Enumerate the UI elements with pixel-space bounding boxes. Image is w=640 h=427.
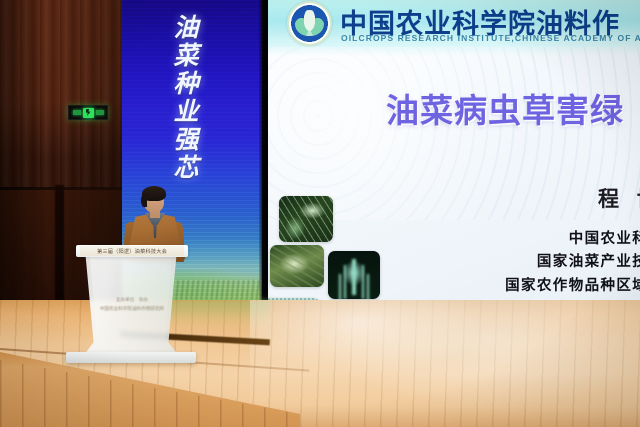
photo-rapeseed-pest-damage xyxy=(279,196,333,242)
podium-sub-line-2: 中国农业科学院油料作物研究所 xyxy=(95,305,169,314)
presenter-name: 程 博 xyxy=(598,183,640,213)
podium-banner-text: 第三届（阳逻）油菜科技大会 xyxy=(97,248,167,255)
floor-reflection-screen xyxy=(250,300,640,427)
projection-screen: 中国农业科学院油料作 OILCROPS RESEARCH INSTITUTE,C… xyxy=(268,0,640,340)
podium-base xyxy=(66,352,196,363)
podium-banner: 第三届（阳逻）油菜科技大会 xyxy=(80,246,184,256)
conference-photo: 油菜种业强芯 中国农业科学院油料作 OILCROPS RESEARCH INST… xyxy=(0,0,640,427)
podium-sub-line-1: 主办单位 协办 xyxy=(95,296,169,305)
logo-ring-text xyxy=(287,1,332,46)
institute-name-en: OILCROPS RESEARCH INSTITUTE,CHINESE ACAD… xyxy=(341,33,640,43)
vertical-banner-text: 油菜种业强芯 xyxy=(160,14,200,182)
exit-sign-left-text xyxy=(73,110,81,115)
photo-rapeseed-seedling xyxy=(328,251,380,299)
exit-sign-right-text xyxy=(96,110,104,115)
wall-dark-groove xyxy=(55,185,64,300)
slide-title: 油菜病虫草害绿 xyxy=(386,84,624,132)
running-man-icon xyxy=(83,108,94,118)
affiliation-item: 中国农业科学院 xyxy=(308,228,640,251)
oilcrops-research-institute-logo xyxy=(287,1,332,46)
photo-rapeseed-sclerotinia xyxy=(270,245,324,287)
exit-sign xyxy=(68,105,108,120)
speaker-hair-side xyxy=(141,194,147,207)
podium-sub-text: 主办单位 协办 中国农业科学院油料作物研究所 xyxy=(95,296,169,313)
